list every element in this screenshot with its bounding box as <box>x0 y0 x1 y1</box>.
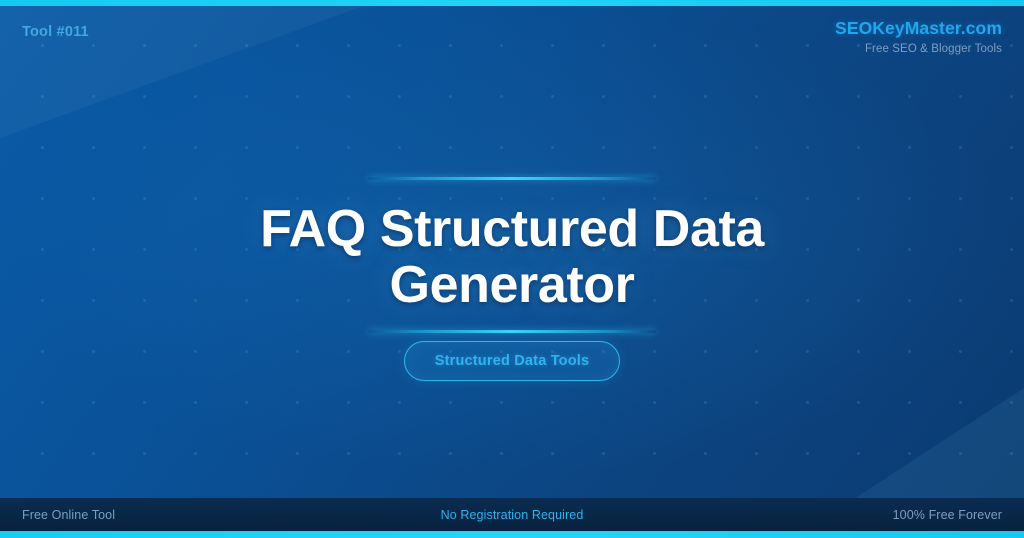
brand-block: SEOKeyMaster.com Free SEO & Blogger Tool… <box>835 18 1002 55</box>
banner-header: Tool #011 SEOKeyMaster.com Free SEO & Bl… <box>0 6 1024 66</box>
page-title: FAQ Structured Data Generator <box>172 202 852 313</box>
bottom-accent-bar <box>0 531 1024 538</box>
banner-footer: Free Online Tool No Registration Require… <box>0 498 1024 531</box>
tool-number-label: Tool #011 <box>22 24 89 40</box>
category-badge[interactable]: Structured Data Tools <box>404 341 621 381</box>
footer-center-label: No Registration Required <box>349 508 676 522</box>
footer-right-label: 100% Free Forever <box>675 508 1024 522</box>
brand-tagline: Free SEO & Blogger Tools <box>835 43 1002 55</box>
tool-banner: Tool #011 SEOKeyMaster.com Free SEO & Bl… <box>0 0 1024 538</box>
footer-left-label: Free Online Tool <box>0 508 349 522</box>
top-accent-bar <box>0 0 1024 6</box>
divider-below-title <box>368 330 656 333</box>
banner-main: FAQ Structured Data Generator Structured… <box>0 66 1024 492</box>
brand-name: SEOKeyMaster.com <box>835 18 1002 39</box>
divider-above-title <box>368 177 656 180</box>
